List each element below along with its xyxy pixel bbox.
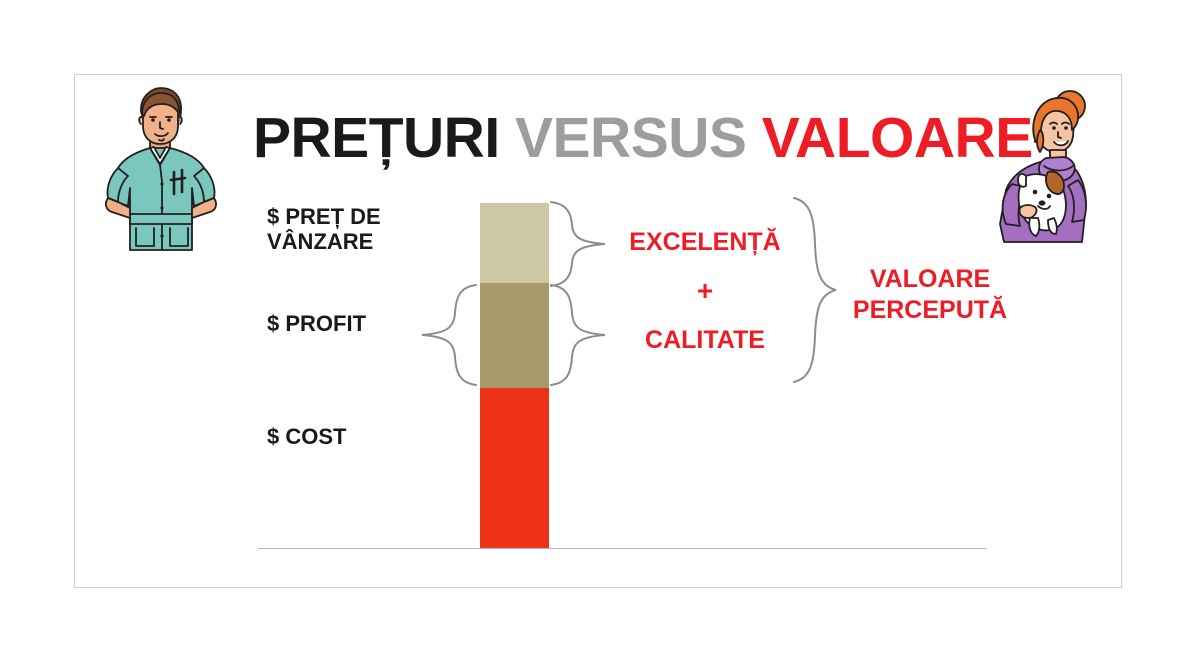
title-part-preturi: PREȚURI	[253, 106, 500, 170]
callout-excelenta: EXCELENȚĂ	[600, 227, 810, 258]
brace-profit-left-icon	[420, 283, 478, 387]
bar-segment-profit	[480, 283, 549, 388]
male-veterinarian-illustration	[100, 84, 220, 260]
label-profit: $ PROFIT	[267, 311, 366, 336]
brace-excelenta-icon	[549, 200, 607, 288]
callout-valoare-perceputa: VALOARE PERCEPUTĂ	[830, 264, 1030, 325]
brace-calitate-icon	[549, 283, 607, 387]
callout-calitate: CALITATE	[600, 325, 810, 356]
bar-segment-pret-de-vanzare	[480, 203, 549, 283]
title-part-versus: VERSUS	[500, 106, 762, 170]
label-pret-de-vanzare: $ PREȚ DE VÂNZARE	[267, 204, 381, 255]
bar-segment-cost	[480, 388, 549, 548]
label-cost: $ COST	[267, 424, 346, 449]
callout-plus: +	[600, 274, 810, 308]
page-title: PREȚURI VERSUS VALOARE	[253, 110, 1033, 167]
woman-holding-dog-illustration	[978, 84, 1098, 244]
chart-baseline	[258, 548, 986, 549]
stacked-bar-chart	[480, 203, 549, 548]
slide-canvas: PREȚURI VERSUS VALOARE $ PREȚ DE VÂNZARE…	[0, 0, 1200, 661]
